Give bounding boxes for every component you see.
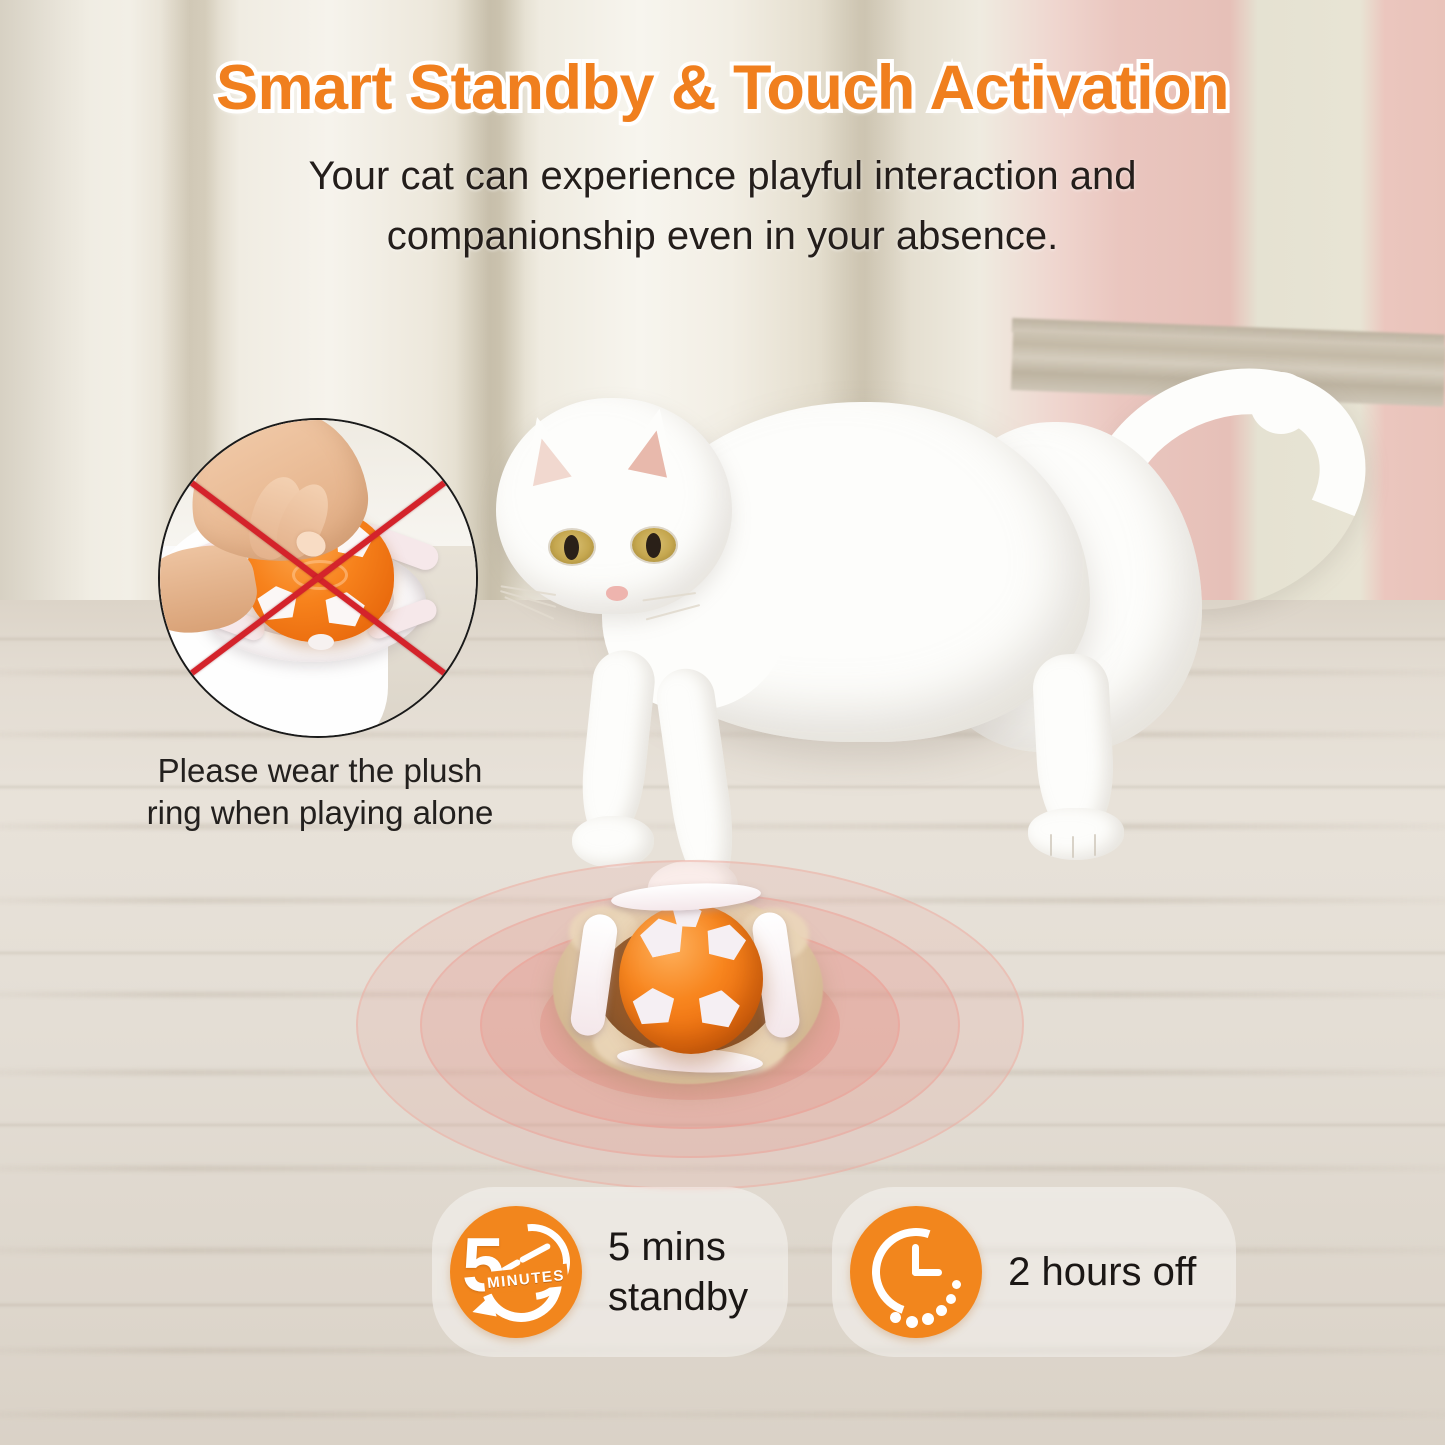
cat-nose — [606, 586, 628, 601]
cat-front-leg-left — [576, 647, 658, 842]
warning-caption-line-2: ring when playing alone — [60, 792, 580, 834]
badge-auto-off-label: 2 hours off — [1008, 1247, 1196, 1297]
warning-caption-line-1: Please wear the plush — [60, 750, 580, 792]
page-title: Smart Standby & Touch Activation — [0, 52, 1445, 124]
cat-head — [496, 398, 732, 614]
two-hours-clock-icon — [850, 1206, 982, 1338]
subtitle-line-1: Your cat can experience playful interact… — [0, 146, 1445, 206]
cat-back-paw — [1028, 808, 1124, 860]
warning-caption: Please wear the plush ring when playing … — [60, 750, 580, 834]
warning-inset — [158, 418, 478, 738]
cat-eye-left — [550, 530, 594, 564]
five-minutes-clock-icon: 5 MINUTES — [450, 1206, 582, 1338]
page-subtitle: Your cat can experience playful interact… — [0, 146, 1445, 266]
cat-eye-right — [632, 528, 676, 562]
badge-standby-label: 5 mins standby — [608, 1222, 748, 1322]
subtitle-line-2: companionship even in your absence. — [0, 206, 1445, 266]
badge-standby: 5 MINUTES 5 mins standby — [432, 1187, 788, 1357]
feature-badges: 5 MINUTES 5 mins standby 2 hours off — [432, 1184, 1367, 1360]
no-hand-touch-icon — [158, 418, 478, 738]
cat-tail-tip — [1250, 372, 1312, 434]
badge-auto-off: 2 hours off — [832, 1187, 1236, 1357]
promo-image: Smart Standby & Touch Activation Your ca… — [0, 0, 1445, 1445]
product-cat-toy-ball — [553, 872, 823, 1097]
